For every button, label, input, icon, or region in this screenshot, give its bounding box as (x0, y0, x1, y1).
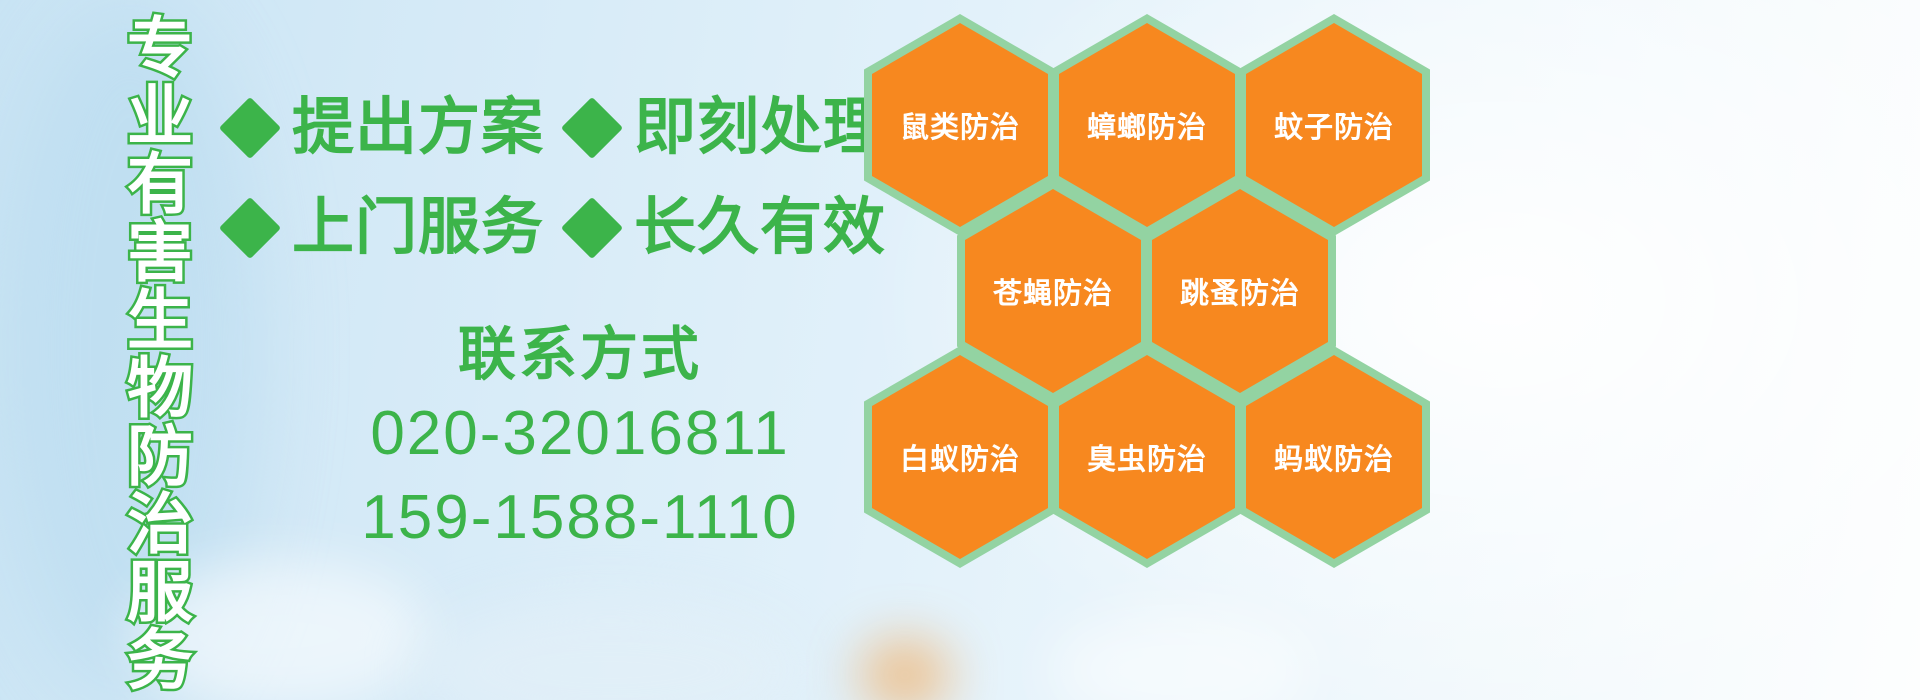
feature-label: 长久有效 (634, 197, 886, 259)
feature-item: 提出方案 (228, 97, 544, 159)
diamond-icon (219, 197, 281, 259)
diamond-icon (561, 97, 623, 159)
vertical-title-char: 物 (127, 354, 193, 422)
feature-row: 上门服务 长久有效 (228, 178, 868, 278)
contact-block: 联系方式 020-32016811 159-1588-1110 (300, 318, 860, 560)
feature-label: 提出方案 (292, 97, 544, 159)
service-label: 蟑螂防治 (1087, 104, 1207, 146)
feature-list: 提出方案 即刻处理 上门服务 长久有效 (228, 78, 868, 278)
service-label: 苍蝇防治 (993, 270, 1113, 312)
feature-item: 上门服务 (228, 197, 544, 259)
feature-label: 上门服务 (292, 197, 544, 259)
feature-row: 提出方案 即刻处理 (228, 78, 868, 178)
diamond-icon (219, 97, 281, 159)
vertical-title-char: 服 (127, 558, 193, 626)
promo-banner: 专 业 有 害 生 物 防 治 服 务 提出方案 即刻处理 上门服务 (0, 0, 1920, 700)
vertical-title-char: 务 (127, 626, 193, 694)
service-hex-grid: 鼠类防治 蟑螂防治 蚊子防治 苍蝇防治 跳蚤防治 白蚁防治 臭虫防治 蚂蚁 (860, 0, 1480, 700)
service-label: 白蚁防治 (900, 436, 1020, 478)
contact-title: 联系方式 (300, 318, 860, 392)
service-label: 鼠类防治 (900, 104, 1020, 146)
vertical-title-char: 专 (127, 14, 193, 82)
vertical-title-char: 治 (127, 490, 193, 558)
vertical-title-char: 业 (127, 82, 193, 150)
vertical-title-char: 防 (127, 422, 193, 490)
background-blur-2 (420, 600, 800, 700)
vertical-title-char: 害 (127, 218, 193, 286)
service-label: 跳蚤防治 (1180, 270, 1300, 312)
vertical-title-char: 生 (127, 286, 193, 354)
vertical-title-char: 有 (127, 150, 193, 218)
phone-number-mobile[interactable]: 159-1588-1110 (300, 476, 860, 560)
service-label: 臭虫防治 (1087, 436, 1207, 478)
feature-item: 即刻处理 (570, 97, 886, 159)
diamond-icon (561, 197, 623, 259)
phone-number-landline[interactable]: 020-32016811 (300, 392, 860, 476)
feature-item: 长久有效 (570, 197, 886, 259)
vertical-title: 专 业 有 害 生 物 防 治 服 务 (105, 14, 215, 700)
feature-label: 即刻处理 (634, 97, 886, 159)
service-label: 蚂蚁防治 (1274, 436, 1394, 478)
service-label: 蚊子防治 (1274, 104, 1394, 146)
